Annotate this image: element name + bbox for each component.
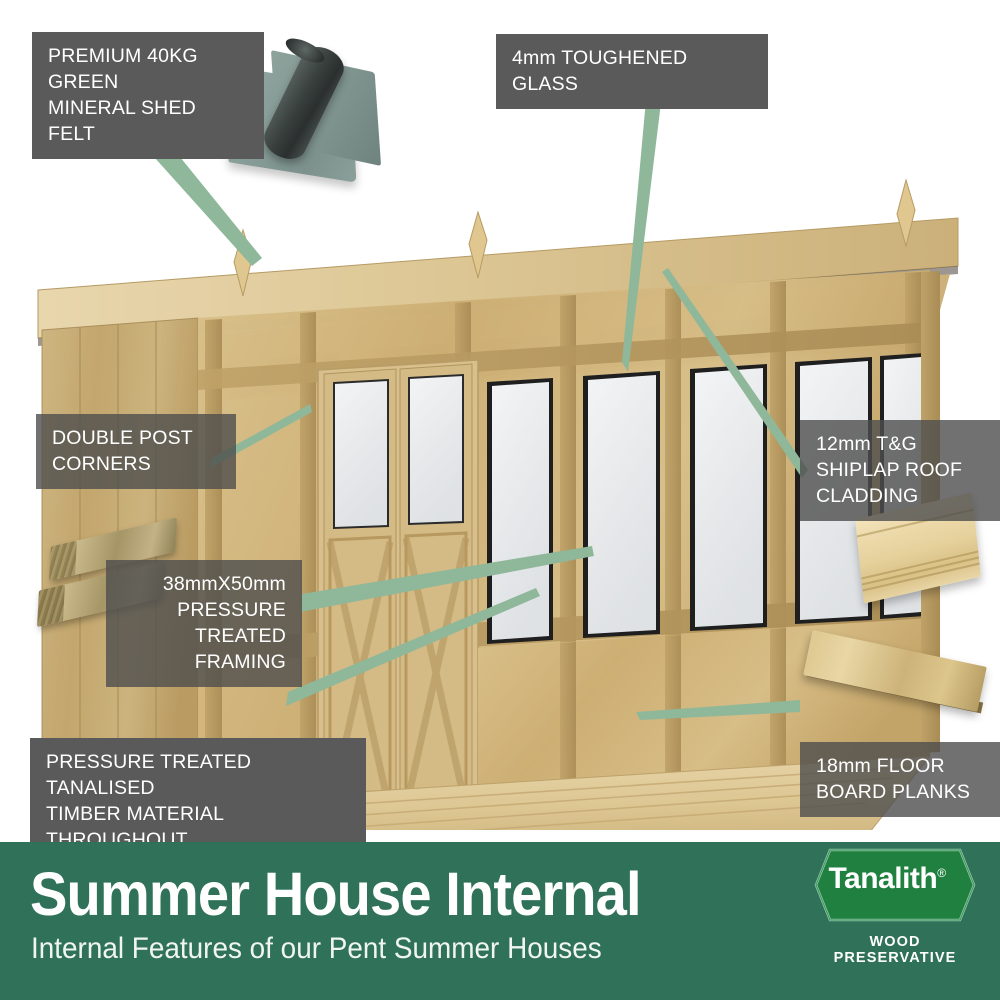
page-subtitle: Internal Features of our Pent Summer Hou… [31,932,602,966]
tanalith-wordmark: Tanalith® [806,862,968,896]
callout-pressure-treated-framing: 38mmX50mm PRESSURE TREATED FRAMING [106,560,302,687]
callout-toughened-glass: 4mm TOUGHENED GLASS [496,34,768,109]
callout-double-post-corners: DOUBLE POST CORNERS [36,414,236,489]
tanalith-name-text: Tanalith [828,862,937,895]
floor-board-plank [802,632,990,744]
infographic-canvas: PREMIUM 40KG GREEN MINERAL SHED FELT 4mm… [0,0,1000,1000]
callout-shiplap-cladding: 12mm T&G SHIPLAP ROOF CLADDING [800,420,1000,521]
pointer-glass [622,78,664,372]
pointer-floor [636,700,800,720]
page-title: Summer House Internal [30,862,641,926]
tanalith-logo: Tanalith® WOOD PRESERVATIVE [806,846,984,974]
callout-floor-board-planks: 18mm FLOOR BOARD PLANKS [800,742,1000,817]
registered-mark: ® [937,866,945,880]
pointer-framing [300,546,594,612]
title-banner: Summer House Internal Internal Features … [0,842,1000,1000]
pointer-cladding [662,268,808,478]
callout-shed-felt: PREMIUM 40KG GREEN MINERAL SHED FELT [32,32,264,159]
tanalith-tagline: WOOD PRESERVATIVE [806,934,984,966]
